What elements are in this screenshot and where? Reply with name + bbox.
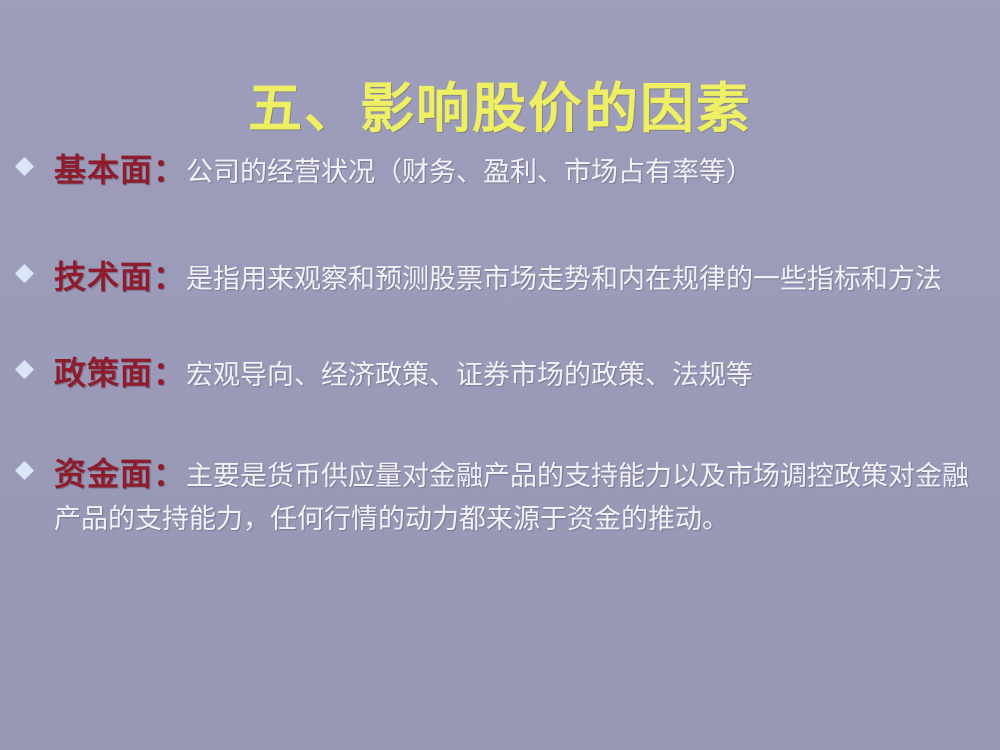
diamond-bullet-icon	[15, 361, 33, 379]
bullet-label: 资金面：	[54, 456, 186, 492]
bullet-text: 公司的经营状况（财务、盈利、市场占有率等）	[186, 157, 753, 187]
page-title: 五、影响股价的因素	[0, 82, 1000, 136]
diamond-bullet-icon	[15, 461, 33, 479]
bullet-label: 技术面：	[54, 259, 186, 295]
presentation-slide: 五、影响股价的因素 基本面：公司的经营状况（财务、盈利、市场占有率等） 技术面：…	[0, 0, 1000, 750]
bullet-list: 基本面：公司的经营状况（财务、盈利、市场占有率等） 技术面：是指用来观察和预测股…	[10, 146, 982, 540]
bullet-text: 主要是货币供应量对金融产品的支持能力以及市场调控政策对金融产品的支持能力，任何行…	[54, 461, 969, 534]
list-item: 技术面：是指用来观察和预测股票市场走势和内在规律的一些指标和方法	[10, 253, 982, 302]
bullet-label: 政策面：	[54, 355, 186, 391]
diamond-bullet-icon	[15, 157, 33, 175]
bullet-body: 资金面：主要是货币供应量对金融产品的支持能力以及市场调控政策对金融产品的支持能力…	[54, 450, 982, 540]
bullet-body: 政策面：宏观导向、经济政策、证券市场的政策、法规等	[54, 349, 982, 398]
list-item: 政策面：宏观导向、经济政策、证券市场的政策、法规等	[10, 349, 982, 398]
list-item: 基本面：公司的经营状况（财务、盈利、市场占有率等）	[10, 146, 982, 195]
bullet-text: 宏观导向、经济政策、证券市场的政策、法规等	[186, 360, 753, 390]
list-item: 资金面：主要是货币供应量对金融产品的支持能力以及市场调控政策对金融产品的支持能力…	[10, 450, 982, 540]
bullet-text: 是指用来观察和预测股票市场走势和内在规律的一些指标和方法	[186, 264, 942, 294]
bullet-label: 基本面：	[54, 152, 186, 188]
diamond-bullet-icon	[15, 264, 33, 282]
bullet-body: 技术面：是指用来观察和预测股票市场走势和内在规律的一些指标和方法	[54, 253, 982, 302]
bullet-body: 基本面：公司的经营状况（财务、盈利、市场占有率等）	[54, 146, 982, 195]
